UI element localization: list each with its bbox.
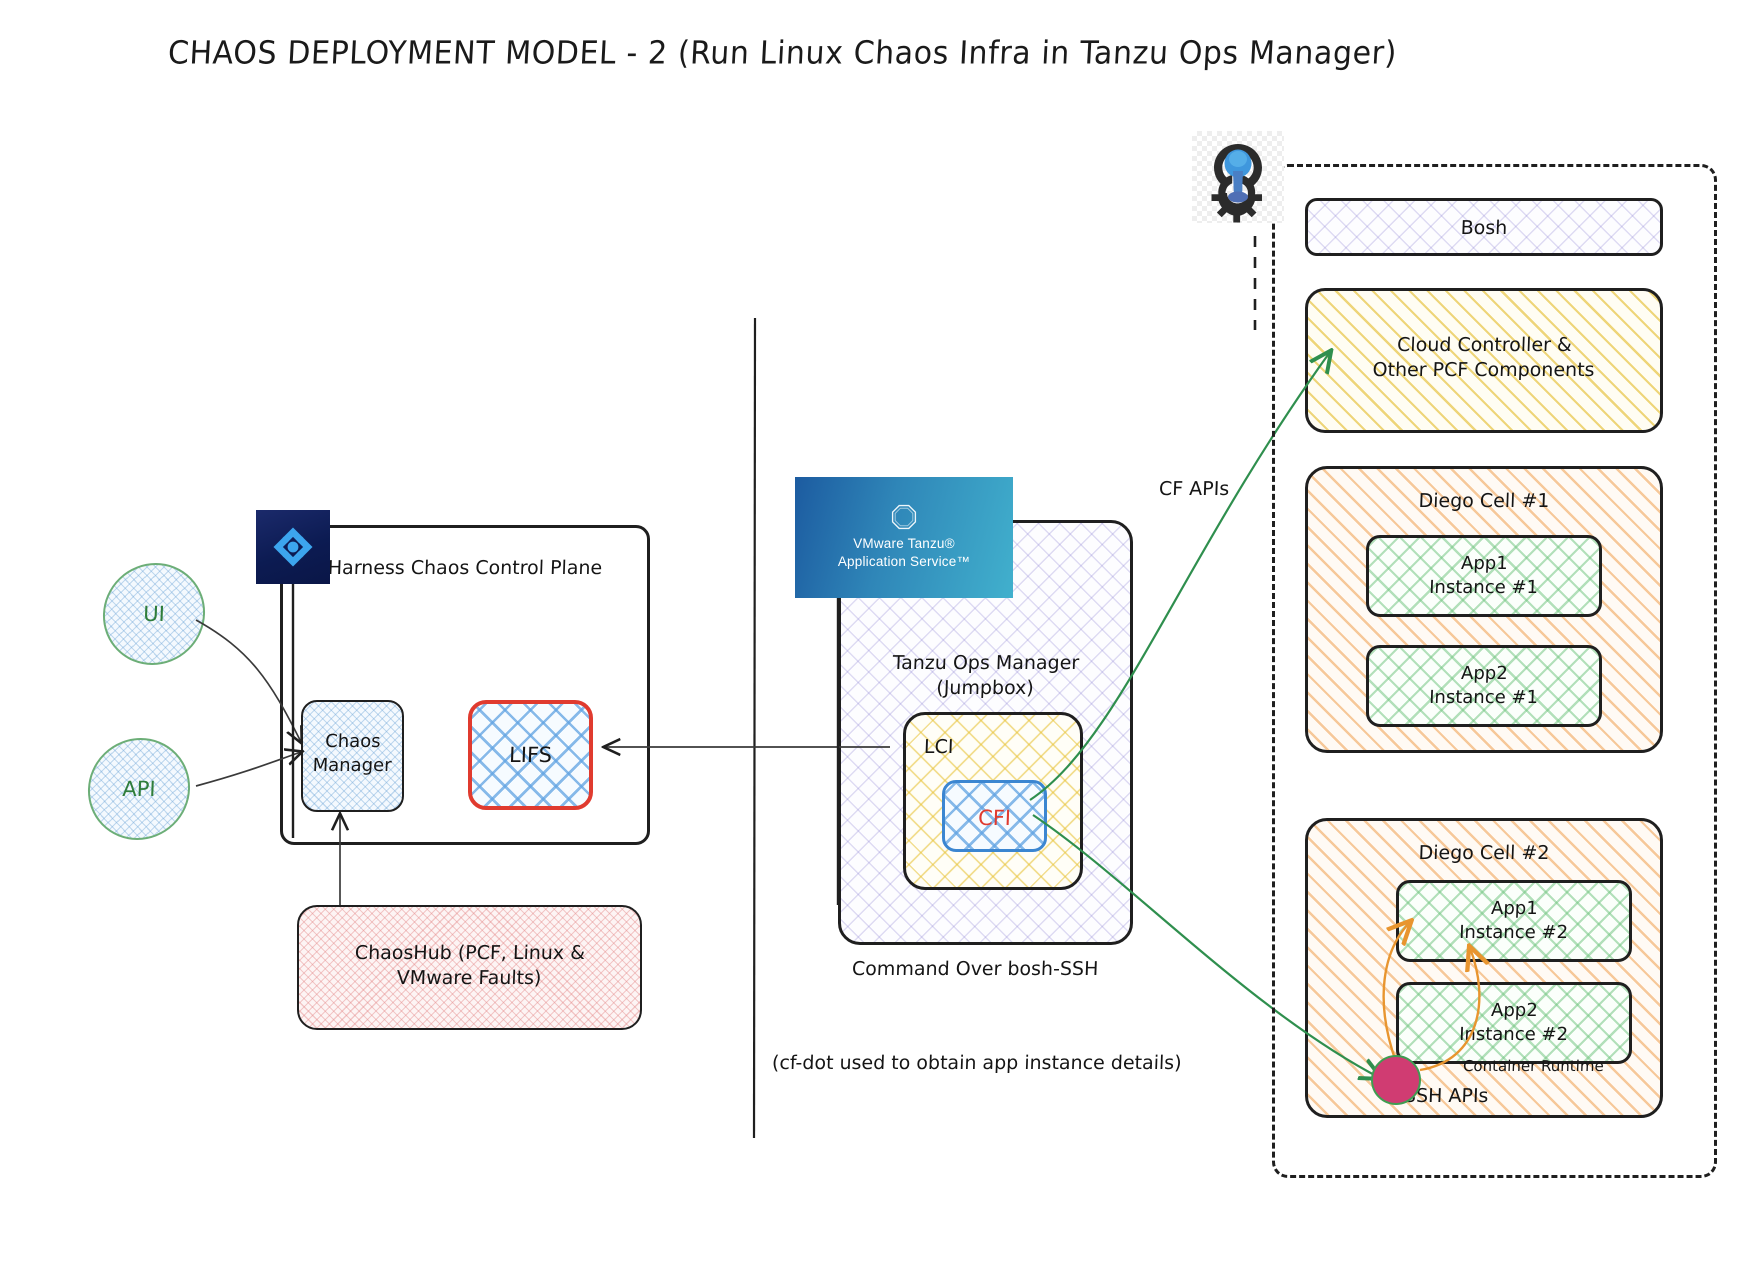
vmware-tanzu-octagon-icon — [891, 504, 917, 530]
cfi-node[interactable]: CFI — [942, 780, 1047, 852]
api-node-label: API — [122, 777, 156, 801]
tanzu-banner-line1: VMware Tanzu® — [853, 535, 955, 553]
ssh-apis-node[interactable] — [1371, 1055, 1421, 1105]
ui-node-label: UI — [143, 602, 165, 626]
diagram-canvas: CHAOS DEPLOYMENT MODEL - 2 (Run Linux Ch… — [0, 0, 1759, 1269]
chaoshub-label: ChaosHub (PCF, Linux & VMware Faults) — [298, 941, 641, 991]
vmware-tanzu-banner: VMware Tanzu® Application Service™ — [795, 477, 1013, 598]
cf-apis-edge-label: CF APIs — [1159, 478, 1230, 500]
chaos-manager-node[interactable]: Chaos Manager — [301, 700, 404, 812]
cfi-label: CFI — [945, 805, 1045, 833]
chaoshub-node[interactable]: ChaosHub (PCF, Linux & VMware Faults) — [297, 905, 642, 1030]
control-plane-label: Harness Chaos Control Plane — [297, 556, 634, 581]
pcf-foundation-boundary — [1272, 164, 1717, 1178]
divider-line — [754, 318, 755, 1138]
cloud-foundry-logo-icon — [1192, 131, 1284, 223]
cfdot-note: (cf-dot used to obtain app instance deta… — [772, 1052, 1182, 1074]
lci-label: LCI — [906, 735, 1099, 760]
tanzu-ops-manager-label: Tanzu Ops Manager (Jumpbox) — [840, 651, 1131, 701]
ui-node[interactable]: UI — [101, 563, 207, 665]
chaos-manager-label: Chaos Manager — [302, 730, 403, 778]
lifs-label: LIFS — [472, 742, 590, 770]
lifs-node[interactable]: LIFS — [468, 700, 593, 810]
api-node[interactable]: API — [86, 738, 192, 840]
harness-logo-icon — [256, 510, 330, 584]
tanzu-banner-line2: Application Service™ — [838, 553, 970, 571]
page-title: CHAOS DEPLOYMENT MODEL - 2 (Run Linux Ch… — [167, 35, 1398, 72]
command-over-bosh-ssh-note: Command Over bosh-SSH — [852, 958, 1099, 980]
